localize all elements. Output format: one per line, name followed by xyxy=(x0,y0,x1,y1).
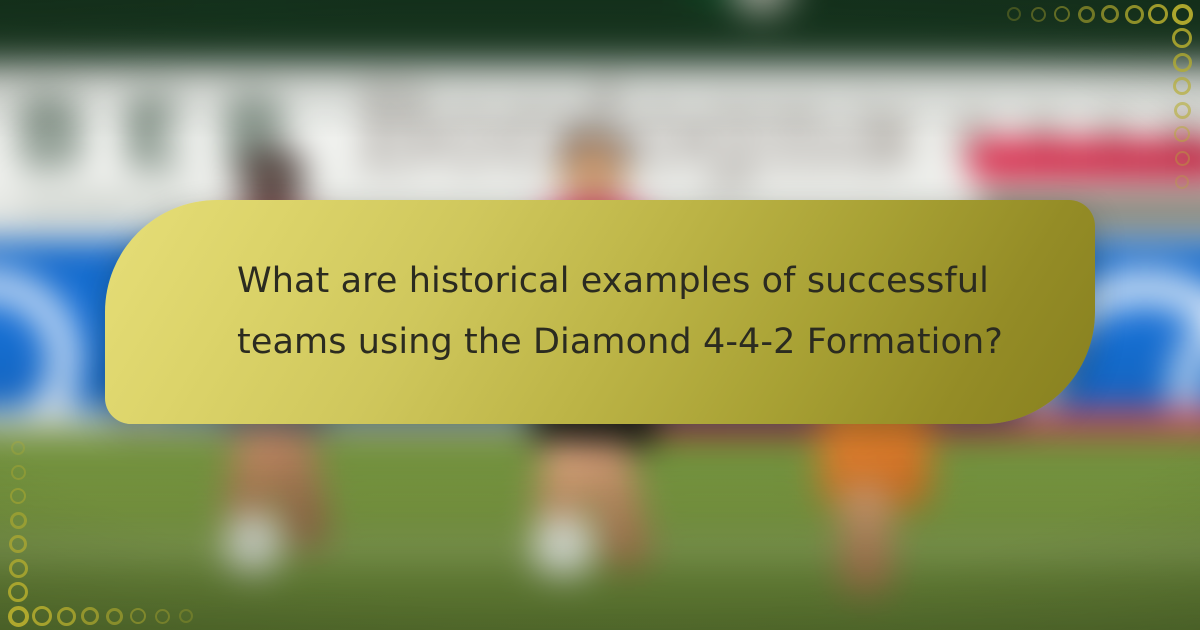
decoration-circle xyxy=(8,606,29,627)
decoration-circle xyxy=(57,607,76,626)
question-card: What are historical examples of successf… xyxy=(105,200,1095,424)
decoration-circle xyxy=(9,535,27,553)
decoration-circle xyxy=(10,512,27,529)
decoration-circle xyxy=(32,606,52,626)
decoration-circle xyxy=(179,609,193,623)
question-card-graphic: BER Bordogna casse osteria xyxy=(0,0,1200,630)
decoration-circle xyxy=(81,607,99,625)
decoration-circle xyxy=(11,441,25,455)
decoration-circle xyxy=(11,465,26,480)
decoration-circle xyxy=(8,582,28,602)
decoration-circle xyxy=(10,488,26,504)
decoration-circle xyxy=(155,609,170,624)
decoration-circle xyxy=(130,608,146,624)
decoration-circle xyxy=(9,559,28,578)
question-text: What are historical examples of successf… xyxy=(105,251,1077,373)
decoration-circle xyxy=(106,608,123,625)
